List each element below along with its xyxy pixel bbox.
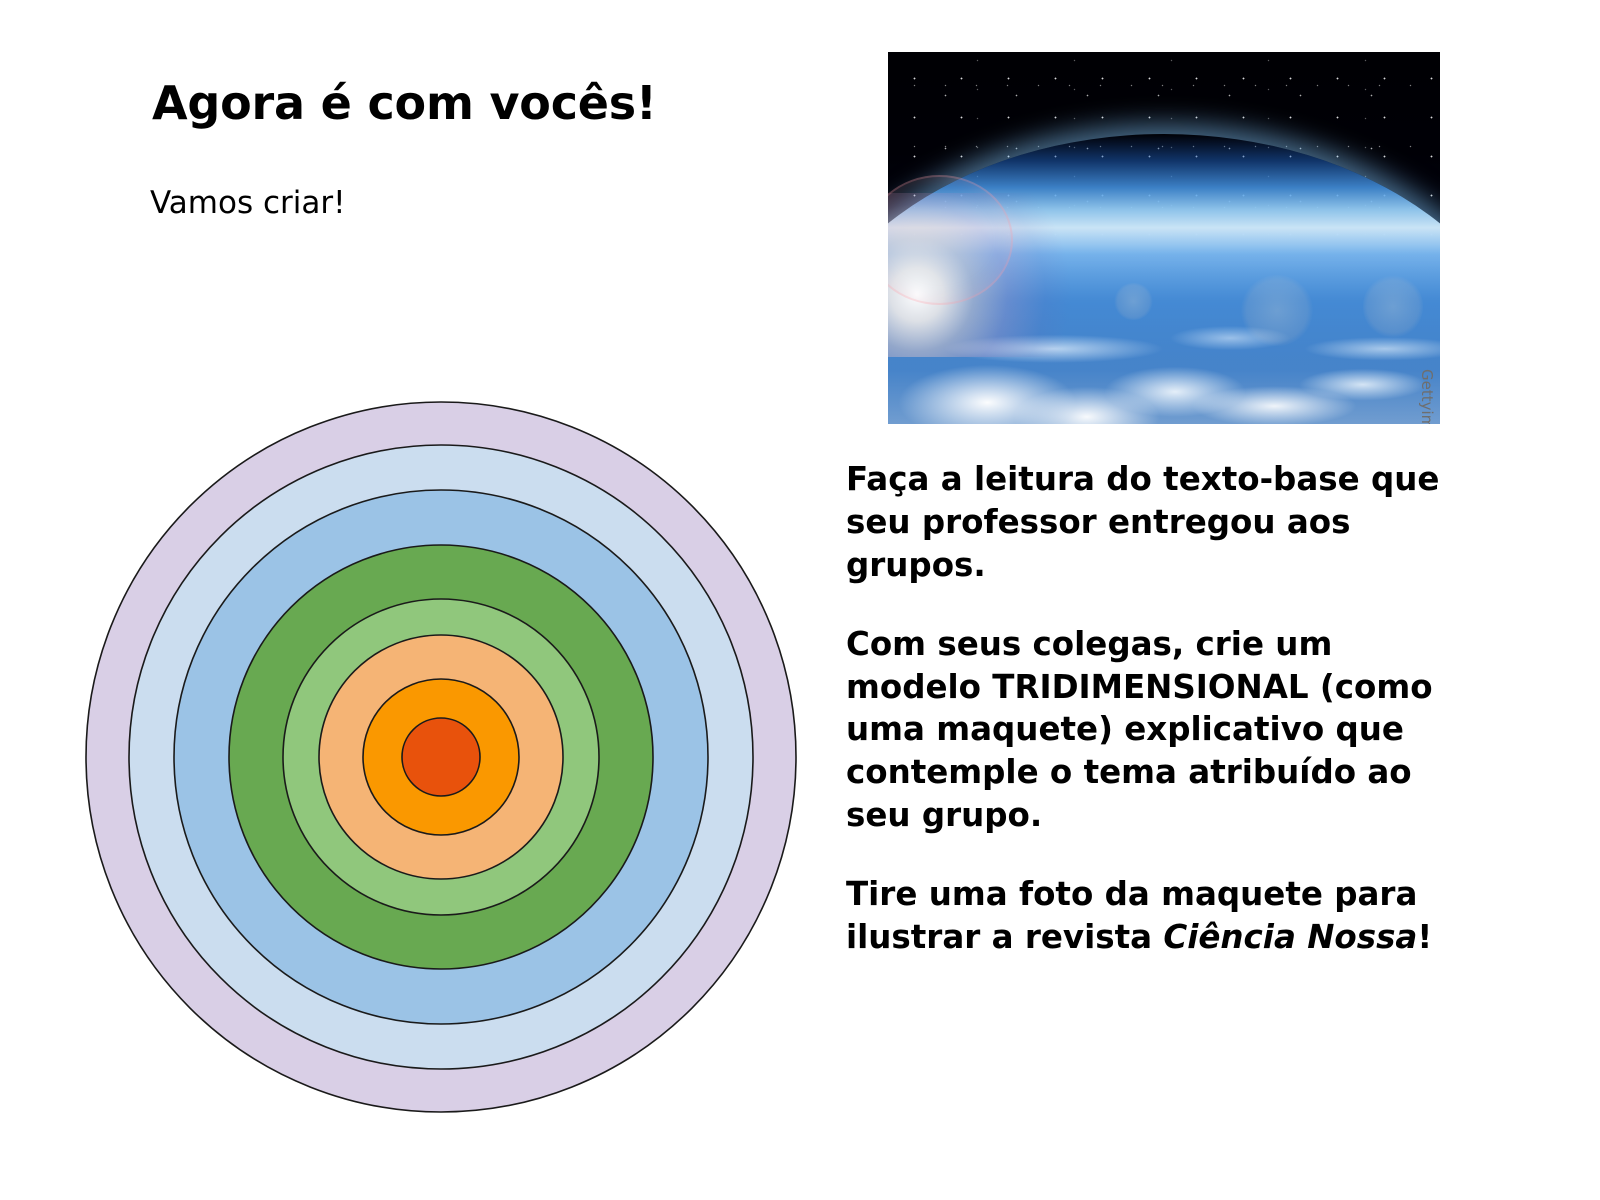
instruction-paragraph-3: Tire uma foto da maquete para ilustrar a… — [846, 873, 1466, 959]
ring-1-core — [402, 718, 480, 796]
lens-flare-dot-1-icon — [1114, 283, 1153, 320]
earth-photo: Gettyimages — [888, 52, 1440, 424]
instruction-paragraph-1: Faça a leitura do texto-base que seu pro… — [846, 458, 1466, 587]
instruction-p3-text-after: ! — [1417, 918, 1432, 956]
earth-photo-inner — [888, 52, 1440, 424]
magazine-name: Ciência Nossa — [1163, 918, 1417, 956]
page-subtitle: Vamos criar! — [150, 185, 346, 222]
rings-group — [86, 402, 796, 1112]
slide-canvas: Agora é com vocês! Vamos criar! Gettyima… — [0, 0, 1600, 1200]
instruction-paragraph-2: Com seus colegas, crie um modelo TRIDIME… — [846, 623, 1466, 837]
photo-watermark-label: Gettyimages — [1418, 369, 1436, 424]
concentric-rings-diagram — [78, 400, 804, 1116]
rings-svg — [78, 400, 804, 1116]
photo-watermark: Gettyimages — [1416, 352, 1438, 424]
page-title: Agora é com vocês! — [152, 78, 657, 130]
lens-flare-dot-2-icon — [1241, 275, 1313, 346]
instructions-block: Faça a leitura do texto-base que seu pro… — [846, 458, 1466, 959]
